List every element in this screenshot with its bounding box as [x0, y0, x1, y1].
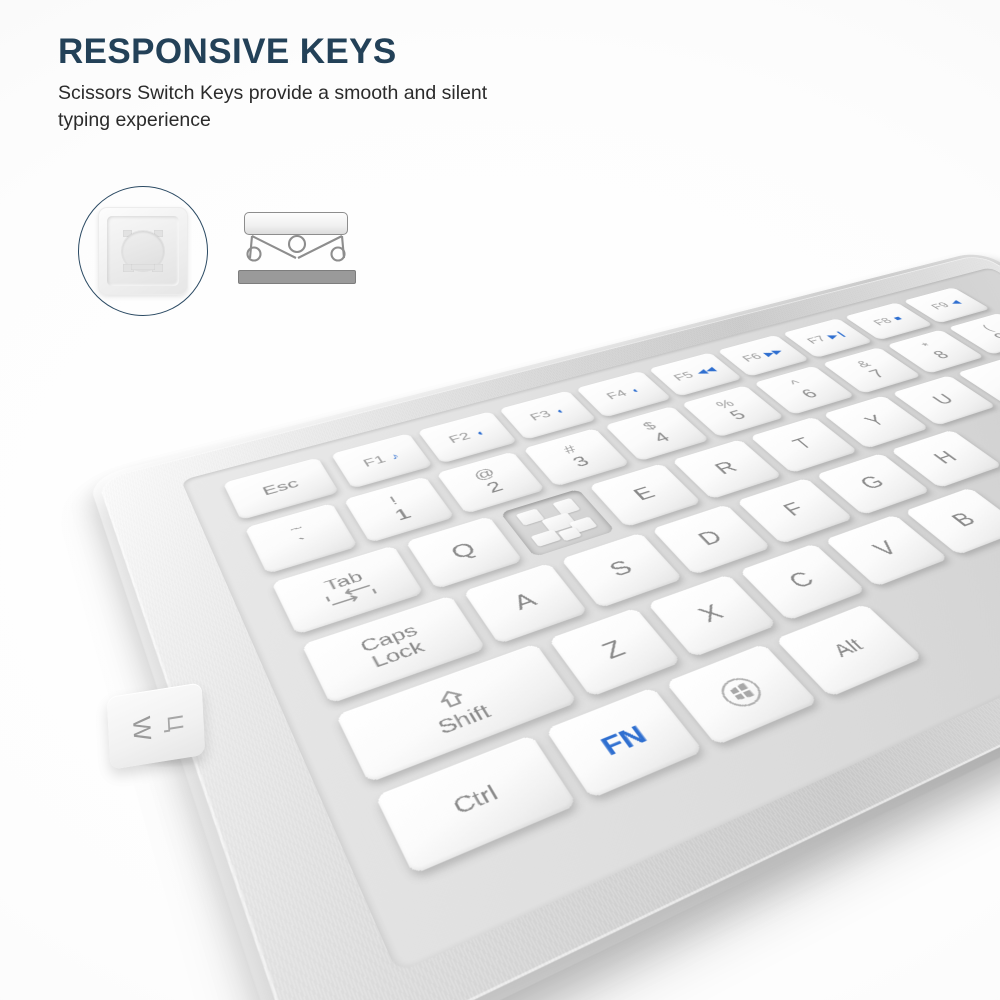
product-marketing-image: RESPONSIVE KEYS Scissors Switch Keys pro… — [0, 0, 1000, 1000]
detached-keycap-secondary-legend: Ц — [161, 713, 188, 733]
keyboard: F1♪ F2◖ F3◖ F4◖ F5◀◀ F6▶▶ F7▶❙ F8■ — [97, 254, 1000, 1000]
detached-keycap-primary-legend: W — [126, 714, 156, 742]
detached-keycap-w[interactable]: W Ц — [107, 682, 206, 769]
keyboard-scene: F1♪ F2◖ F3◖ F4◖ F5◀◀ F6▶▶ F7▶❙ F8■ — [0, 0, 1000, 1000]
